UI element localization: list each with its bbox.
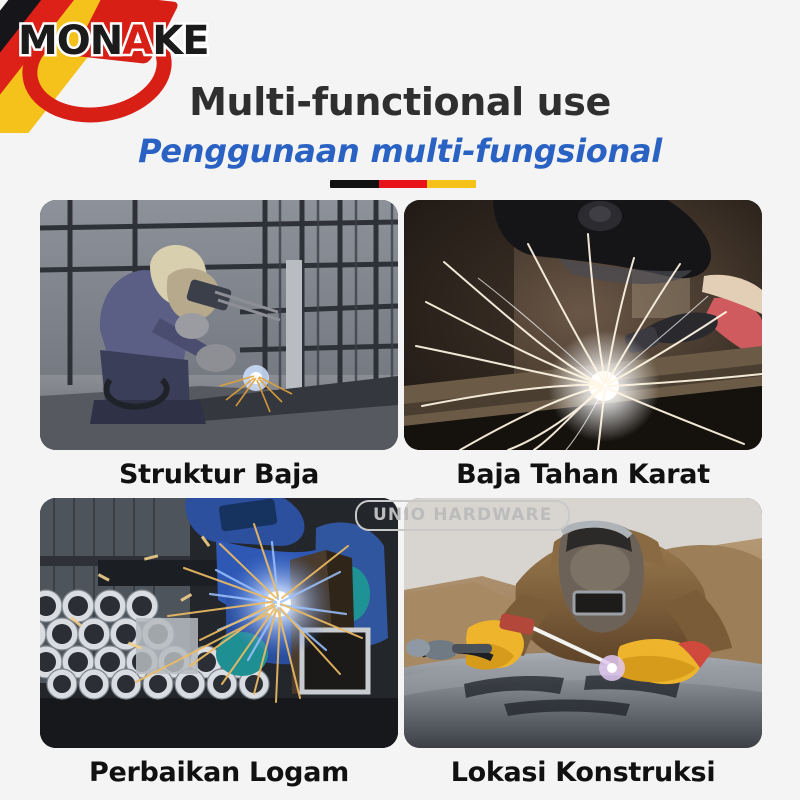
use-case-card[interactable]: Struktur Baja bbox=[40, 200, 398, 490]
card-caption: Struktur Baja bbox=[40, 459, 398, 490]
wordmark-suffix: KE bbox=[152, 18, 208, 64]
divider-segment-black bbox=[330, 180, 379, 188]
use-case-card[interactable]: Lokasi Konstruksi bbox=[404, 498, 762, 788]
tricolor-divider bbox=[330, 180, 476, 188]
brand-wordmark: MONAKE bbox=[18, 18, 209, 64]
use-case-grid: Struktur Baja bbox=[40, 200, 762, 788]
photo-baja-tahan-karat bbox=[404, 200, 762, 450]
page-subtitle: Penggunaan multi-fungsional bbox=[0, 132, 800, 170]
photo-perbaikan-logam bbox=[40, 498, 398, 748]
photo-lokasi-konstruksi bbox=[404, 498, 762, 748]
photo-struktur-baja bbox=[40, 200, 398, 450]
use-case-card[interactable]: Baja Tahan Karat bbox=[404, 200, 762, 490]
card-caption: Lokasi Konstruksi bbox=[404, 757, 762, 788]
page-title: Multi-functional use bbox=[0, 80, 800, 124]
card-caption: Perbaikan Logam bbox=[40, 757, 398, 788]
card-caption: Baja Tahan Karat bbox=[404, 459, 762, 490]
divider-segment-gold bbox=[427, 180, 476, 188]
use-case-card[interactable]: Perbaikan Logam bbox=[40, 498, 398, 788]
wordmark-prefix: MON bbox=[18, 18, 122, 64]
wordmark-accent-letter: A bbox=[122, 18, 152, 64]
divider-segment-red bbox=[379, 180, 428, 188]
